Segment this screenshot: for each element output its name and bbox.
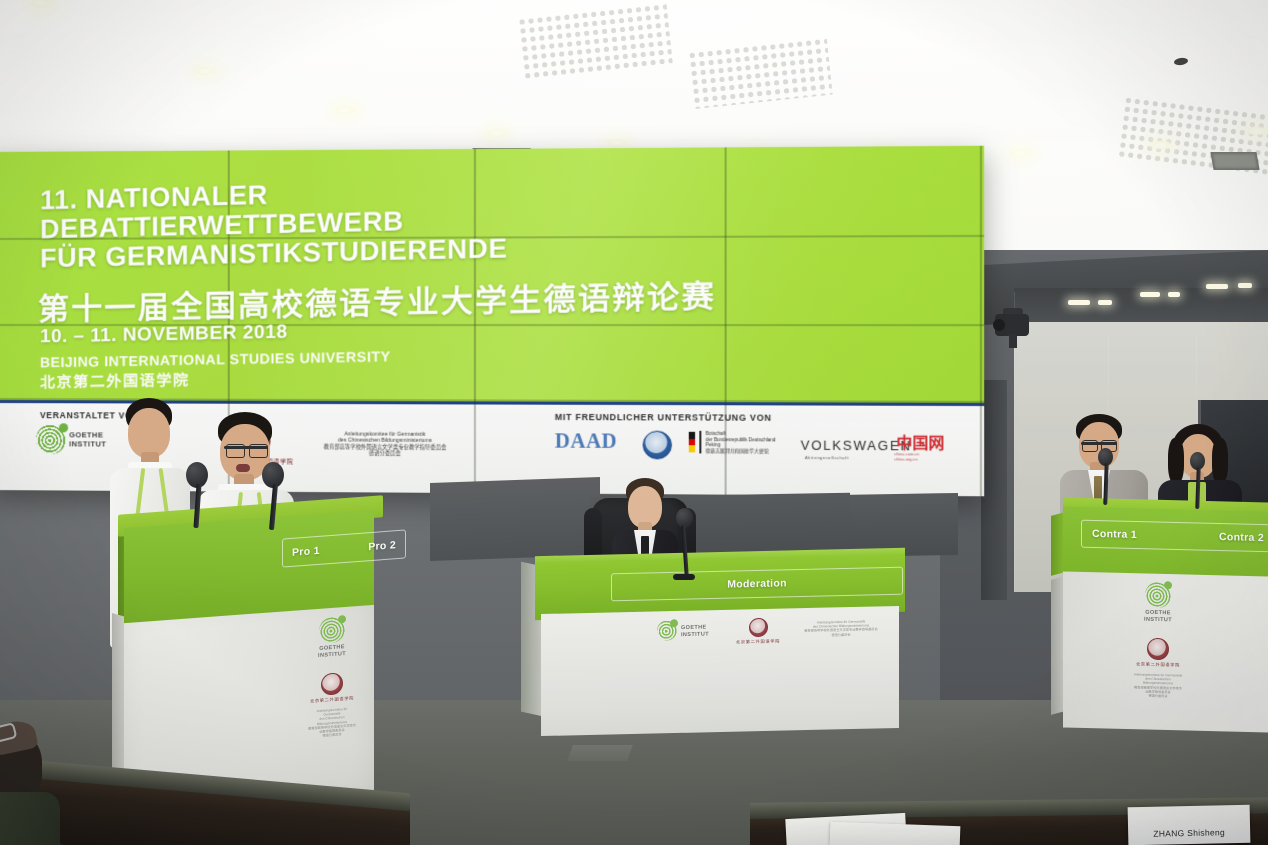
china-org-logo: 中国网: [896, 432, 944, 454]
pro-podium-face: [124, 510, 374, 623]
wall-pillar: [981, 380, 1007, 600]
moderation-label: Moderation: [727, 577, 787, 590]
slide-date: 10. – 11. NOVEMBER 2018: [40, 322, 288, 349]
slide-venue-chinese: 北京第二外国语学院: [40, 369, 190, 393]
pro-podium: Pro 1 Pro 2 GOETHEINSTITUT 北京第二外国语学院 Anl…: [118, 505, 383, 805]
wall-camera: [993, 308, 1041, 350]
daad-logo: DAAD: [555, 430, 617, 454]
ceiling-downlight: [484, 128, 510, 138]
pro-2-label: Pro 2: [368, 539, 396, 553]
name-tent-card: ZHANG Shisheng: [1128, 805, 1251, 845]
microphone: [262, 462, 296, 524]
alcove-light-strip: [1068, 300, 1090, 305]
pro-podium-seal: 北京第二外国语学院 Anleitungskomitee für Germanis…: [308, 671, 356, 739]
document-paper: [830, 822, 961, 845]
goethe-institut-logo: GOETHEINSTITUT: [36, 424, 66, 454]
name-tent-label: ZHANG Shisheng: [1153, 827, 1225, 844]
ceiling-downlight: [192, 66, 218, 76]
alcove-light-strip: [1238, 283, 1252, 288]
microphone: [1190, 452, 1216, 510]
microphone: [1098, 448, 1124, 506]
ceiling-downlight: [1008, 148, 1034, 158]
germanistik-committee-text: Anleitungskomitee für Germanistikdes Chi…: [324, 431, 447, 458]
contra-1-label: Contra 1: [1092, 528, 1137, 541]
audience-member: [0, 718, 56, 845]
contra-2-label: Contra 2: [1219, 531, 1264, 544]
pro-1-label: Pro 1: [292, 544, 320, 558]
moderation-desk: Moderation GOETHEINSTITUT 北京第二外国语学院 Anle…: [535, 548, 905, 733]
ceiling-downlight: [332, 105, 358, 115]
german-embassy-logo: Botschaftder Bundesrepublik DeutschlandP…: [689, 431, 776, 454]
floor-access-panel: [567, 745, 633, 761]
blue-seal-logo: [643, 431, 672, 460]
microphone: [186, 462, 220, 524]
alcove-light-strip: [1206, 284, 1228, 289]
contra-podium-seal: 北京第二外国语学院 Anleitungskomitee für Germanis…: [1133, 637, 1183, 698]
microphone: [676, 508, 706, 580]
supporter-heading: MIT FREUNDLICHER UNTERSTÜTZUNG VON: [555, 412, 772, 423]
ceiling-vent: [1210, 152, 1259, 170]
ceiling-downlight: [1148, 140, 1174, 150]
moderation-seal: 北京第二外国语学院: [731, 617, 785, 645]
alcove-light-strip: [1098, 300, 1112, 305]
alcove-light-strip: [1140, 292, 1160, 297]
moderation-goethe-logo: GOETHEINSTITUT: [657, 619, 715, 640]
debate-hall-photo: 11. NATIONALER DEBATTIERWETTBEWERB FÜR G…: [0, 0, 1268, 845]
alcove-light-strip: [1168, 292, 1180, 297]
moderation-committee-text: Anleitungskomitee für Germanistikdes Chi…: [791, 619, 891, 638]
contra-podium-goethe-logo: GOETHEINSTITUT: [1125, 581, 1191, 624]
ceiling-downlight: [604, 138, 630, 148]
ceiling-downlight: [1244, 126, 1268, 136]
slide-title: 11. NATIONALER DEBATTIERWETTBEWERB FÜR G…: [40, 175, 508, 273]
pro-podium-goethe-logo: GOETHEINSTITUT: [302, 615, 362, 660]
contra-podium: Contra 1 Contra 2 GOETHEINSTITUT 北京第二外国语…: [1063, 500, 1268, 730]
